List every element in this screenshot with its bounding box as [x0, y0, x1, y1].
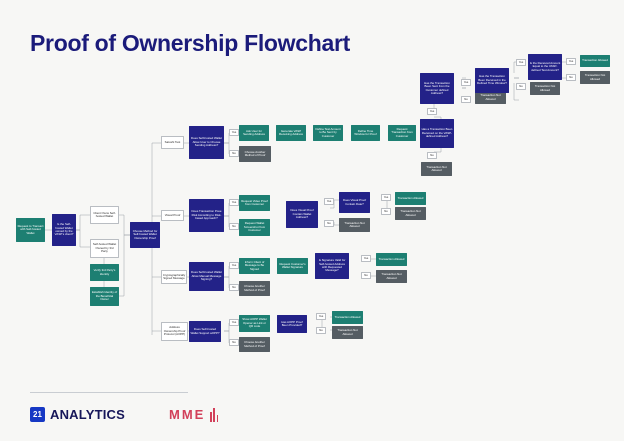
node-define-time-window[interactable]: Define Time Window for Proof	[351, 125, 380, 141]
node-generate-vasp-address[interactable]: Generate VASP Receiving Address	[276, 125, 306, 141]
footer-divider	[30, 392, 188, 393]
yesno-satoshi-yes: Yes	[229, 129, 239, 136]
node-q-risk-based-approach[interactable]: Does Transaction Pose Risk According to …	[189, 199, 224, 232]
node-aopp[interactable]: Address Ownership Proof Protocol (AOPP)	[161, 322, 188, 341]
yesno-supports-aopp-yes: Yes	[229, 319, 239, 326]
node-satoshi-test[interactable]: Satoshi Test	[161, 136, 184, 149]
node-inform-client-message[interactable]: Inform Client of Message to Be Signed	[239, 258, 270, 274]
page-title: Proof of Ownership Flowchart	[30, 30, 350, 57]
node-transaction-allowed-a[interactable]: Transaction Allowed	[580, 55, 610, 67]
yesno-contains-address-no: No	[324, 220, 334, 227]
yesno-manual-signing-yes: Yes	[229, 262, 239, 269]
node-q-owned-by-client[interactable]: Is the Self-hosted Wallet owned by the V…	[52, 214, 76, 246]
logo-21-analytics: 21 ANALYTICS	[30, 407, 125, 422]
node-transaction-not-allowed-g[interactable]: Transaction Not Allowed	[376, 270, 407, 283]
node-transaction-not-allowed-h[interactable]: Transaction Not Allowed	[332, 326, 363, 339]
logo-mme-bars-icon	[210, 408, 218, 422]
node-choose-another-method-3[interactable]: Choose Another Method of Proof	[239, 337, 270, 352]
node-transaction-not-allowed-e[interactable]: Transaction Not Allowed	[339, 218, 370, 232]
node-show-aopp-wallet-opener[interactable]: Show AOPP Wallet Opener as Link or QR co…	[239, 315, 270, 332]
logo-mme: MME	[169, 407, 218, 422]
node-transaction-not-allowed-f[interactable]: Transaction Not Allowed	[395, 207, 426, 220]
logo-21-text: ANALYTICS	[50, 407, 125, 422]
yesno-received-vasp-no: No	[427, 152, 437, 159]
node-choose-another-method-2[interactable]: Choose Another Method of Proof	[239, 281, 270, 296]
node-request-wallet-signature[interactable]: Request Customer's Wallet Signature	[277, 258, 308, 274]
node-transaction-not-allowed-d[interactable]: Transaction Not Allowed	[580, 71, 610, 84]
node-transaction-not-allowed-a[interactable]: Transaction Not Allowed	[421, 162, 452, 176]
node-q-proof-contains-address[interactable]: Does Visual Proof Contain Wallet Address…	[286, 201, 318, 228]
yesno-manual-signing-no: No	[229, 284, 239, 291]
node-q-amount-equal-test-amount[interactable]: Is the Received Amount Equal to the VASP…	[528, 54, 562, 80]
node-q-transaction-received-vasp-address[interactable]: Has a Transaction Been Received on the V…	[420, 119, 454, 148]
node-q-allow-choose-sending-address[interactable]: Does Self-hosted Wallet Allow User to Ch…	[189, 126, 224, 159]
yesno-received-vasp-yes: Yes	[427, 108, 437, 115]
node-q-supports-aopp[interactable]: Does Self-hosted Wallet Support aOPP?	[189, 321, 221, 342]
yesno-aopp-provided-yes: Yes	[316, 313, 326, 320]
node-q-signature-valid[interactable]: Is Signature Valid for Self-hosted Addre…	[315, 253, 349, 279]
yesno-risk-yes: Yes	[229, 199, 239, 206]
node-establish-beneficial-owner[interactable]: Establish Identity of the Beneficial Own…	[90, 287, 119, 306]
yesno-sent-from-customer-no: No	[461, 96, 471, 103]
yesno-signature-valid-no: No	[361, 272, 371, 279]
yesno-contains-address-yes: Yes	[324, 198, 334, 205]
node-q-received-in-time-window[interactable]: Has the Transaction Been Received in the…	[475, 68, 509, 93]
node-transaction-allowed-d[interactable]: Transaction Allowed	[332, 311, 363, 324]
yesno-supports-aopp-no: No	[229, 339, 239, 346]
node-q-proof-contains-date[interactable]: Does Visual Proof Contain Date?	[339, 192, 370, 213]
logo-mme-text: MME	[169, 407, 205, 422]
node-visual-proof[interactable]: Visual Proof	[161, 210, 184, 221]
flowchart-canvas: Proof of Ownership Flowchart	[0, 0, 624, 441]
node-ask-user-sending-address[interactable]: Ask User for Sending Address	[239, 125, 269, 141]
yesno-time-window-no: No	[516, 83, 526, 90]
node-cryptographically-signed-message[interactable]: Cryptographically Signed Message	[161, 270, 187, 284]
yesno-risk-no: No	[229, 223, 239, 230]
yesno-sent-from-customer-yes: Yes	[461, 79, 471, 86]
yesno-amount-equal-no: No	[566, 74, 576, 81]
node-q-manual-message-signing[interactable]: Does Self-hosted Wallet Allow Manual Mes…	[189, 262, 224, 291]
node-owned-third-party[interactable]: Self-hosted Wallet Owned by 3rd Party	[90, 239, 119, 258]
yesno-contains-date-no: No	[381, 208, 391, 215]
footer: 21 ANALYTICS MME	[30, 407, 218, 422]
node-choose-method[interactable]: Choose Method for Self-hosted Wallet Own…	[130, 222, 160, 248]
node-verify-third-party[interactable]: Verify 3rd Party's Identity	[90, 264, 119, 281]
yesno-signature-valid-yes: Yes	[361, 255, 371, 262]
node-client-owns[interactable]: Client Owns Self-hosted Wallet	[90, 206, 119, 224]
node-choose-another-method-1[interactable]: Choose Another Method of Proof	[239, 146, 271, 162]
node-define-test-amount[interactable]: Define Test Amount to Be Sent by Custome…	[313, 125, 343, 141]
node-transaction-not-allowed-c[interactable]: Transaction Not Allowed	[530, 82, 560, 95]
logo-21-mark: 21	[30, 407, 45, 422]
node-request-video-proof[interactable]: Request Video Proof from Customer	[239, 195, 270, 211]
yesno-satoshi-no: No	[229, 150, 239, 157]
node-request-transaction-customer[interactable]: Request Transaction from Customer	[388, 125, 416, 141]
node-transaction-allowed-c[interactable]: Transaction Allowed	[376, 253, 407, 266]
yesno-amount-equal-yes: Yes	[566, 58, 576, 65]
node-q-aopp-proof-provided[interactable]: Has AOPP Proof Been Provided?	[277, 315, 307, 333]
yesno-aopp-provided-no: No	[316, 327, 326, 334]
yesno-contains-date-yes: Yes	[381, 194, 391, 201]
node-transaction-allowed-b[interactable]: Transaction Allowed	[395, 192, 426, 205]
node-q-transaction-sent-from-customer[interactable]: Has the Transaction Been Sent from the C…	[420, 73, 454, 104]
yesno-time-window-yes: Yes	[516, 59, 526, 66]
node-request-wallet-screenshot[interactable]: Request Wallet Screenshot from Customer	[239, 219, 270, 236]
node-start[interactable]: Request to Transact with Self-hosted Wal…	[16, 218, 45, 242]
